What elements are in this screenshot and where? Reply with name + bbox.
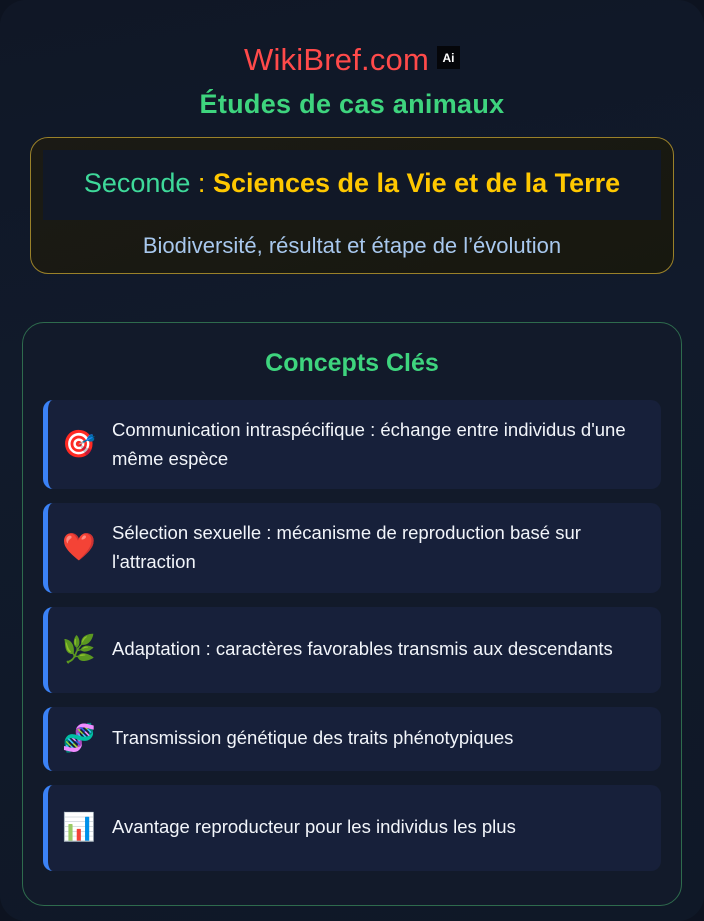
course-separator: : xyxy=(198,168,213,198)
heart-icon: ❤️ xyxy=(62,534,96,561)
course-subject: Sciences de la Vie et de la Terre xyxy=(213,168,620,198)
list-item[interactable]: 🌿 Adaptation : caractères favorables tra… xyxy=(43,607,661,693)
page-title: Études de cas animaux xyxy=(0,89,704,120)
brand-header: WikiBref.com Ai xyxy=(0,0,704,75)
list-item[interactable]: 🧬 Transmission génétique des traits phén… xyxy=(43,707,661,771)
course-title-line: Seconde : Sciences de la Vie et de la Te… xyxy=(61,164,643,204)
concepts-heading: Concepts Clés xyxy=(43,349,661,378)
course-subtitle: Biodiversité, résultat et étape de l’évo… xyxy=(43,233,661,259)
list-item[interactable]: ❤️ Sélection sexuelle : mécanisme de rep… xyxy=(43,503,661,592)
title-card-inner-panel: Seconde : Sciences de la Vie et de la Te… xyxy=(43,150,661,220)
target-icon: 🎯 xyxy=(62,431,96,458)
page-root: WikiBref.com Ai Études de cas animaux Se… xyxy=(0,0,704,921)
list-item[interactable]: 📊 Avantage reproducteur pour les individ… xyxy=(43,785,661,871)
concepts-card: Concepts Clés 🎯 Communication intraspéci… xyxy=(22,322,682,906)
dna-icon: 🧬 xyxy=(62,725,96,752)
list-item-label: Sélection sexuelle : mécanisme de reprod… xyxy=(112,519,643,576)
list-item-label: Communication intraspécifique : échange … xyxy=(112,416,643,473)
herb-leaf-icon: 🌿 xyxy=(62,636,96,663)
list-item-label: Adaptation : caractères favorables trans… xyxy=(112,635,613,664)
brand-name: WikiBref.com xyxy=(244,44,429,75)
bar-chart-icon: 📊 xyxy=(62,814,96,841)
ai-badge: Ai xyxy=(437,46,460,69)
title-card: Seconde : Sciences de la Vie et de la Te… xyxy=(30,137,674,274)
list-item[interactable]: 🎯 Communication intraspécifique : échang… xyxy=(43,400,661,489)
list-item-label: Avantage reproducteur pour les individus… xyxy=(112,813,516,842)
course-grade: Seconde xyxy=(84,168,198,198)
list-item-label: Transmission génétique des traits phénot… xyxy=(112,724,513,753)
